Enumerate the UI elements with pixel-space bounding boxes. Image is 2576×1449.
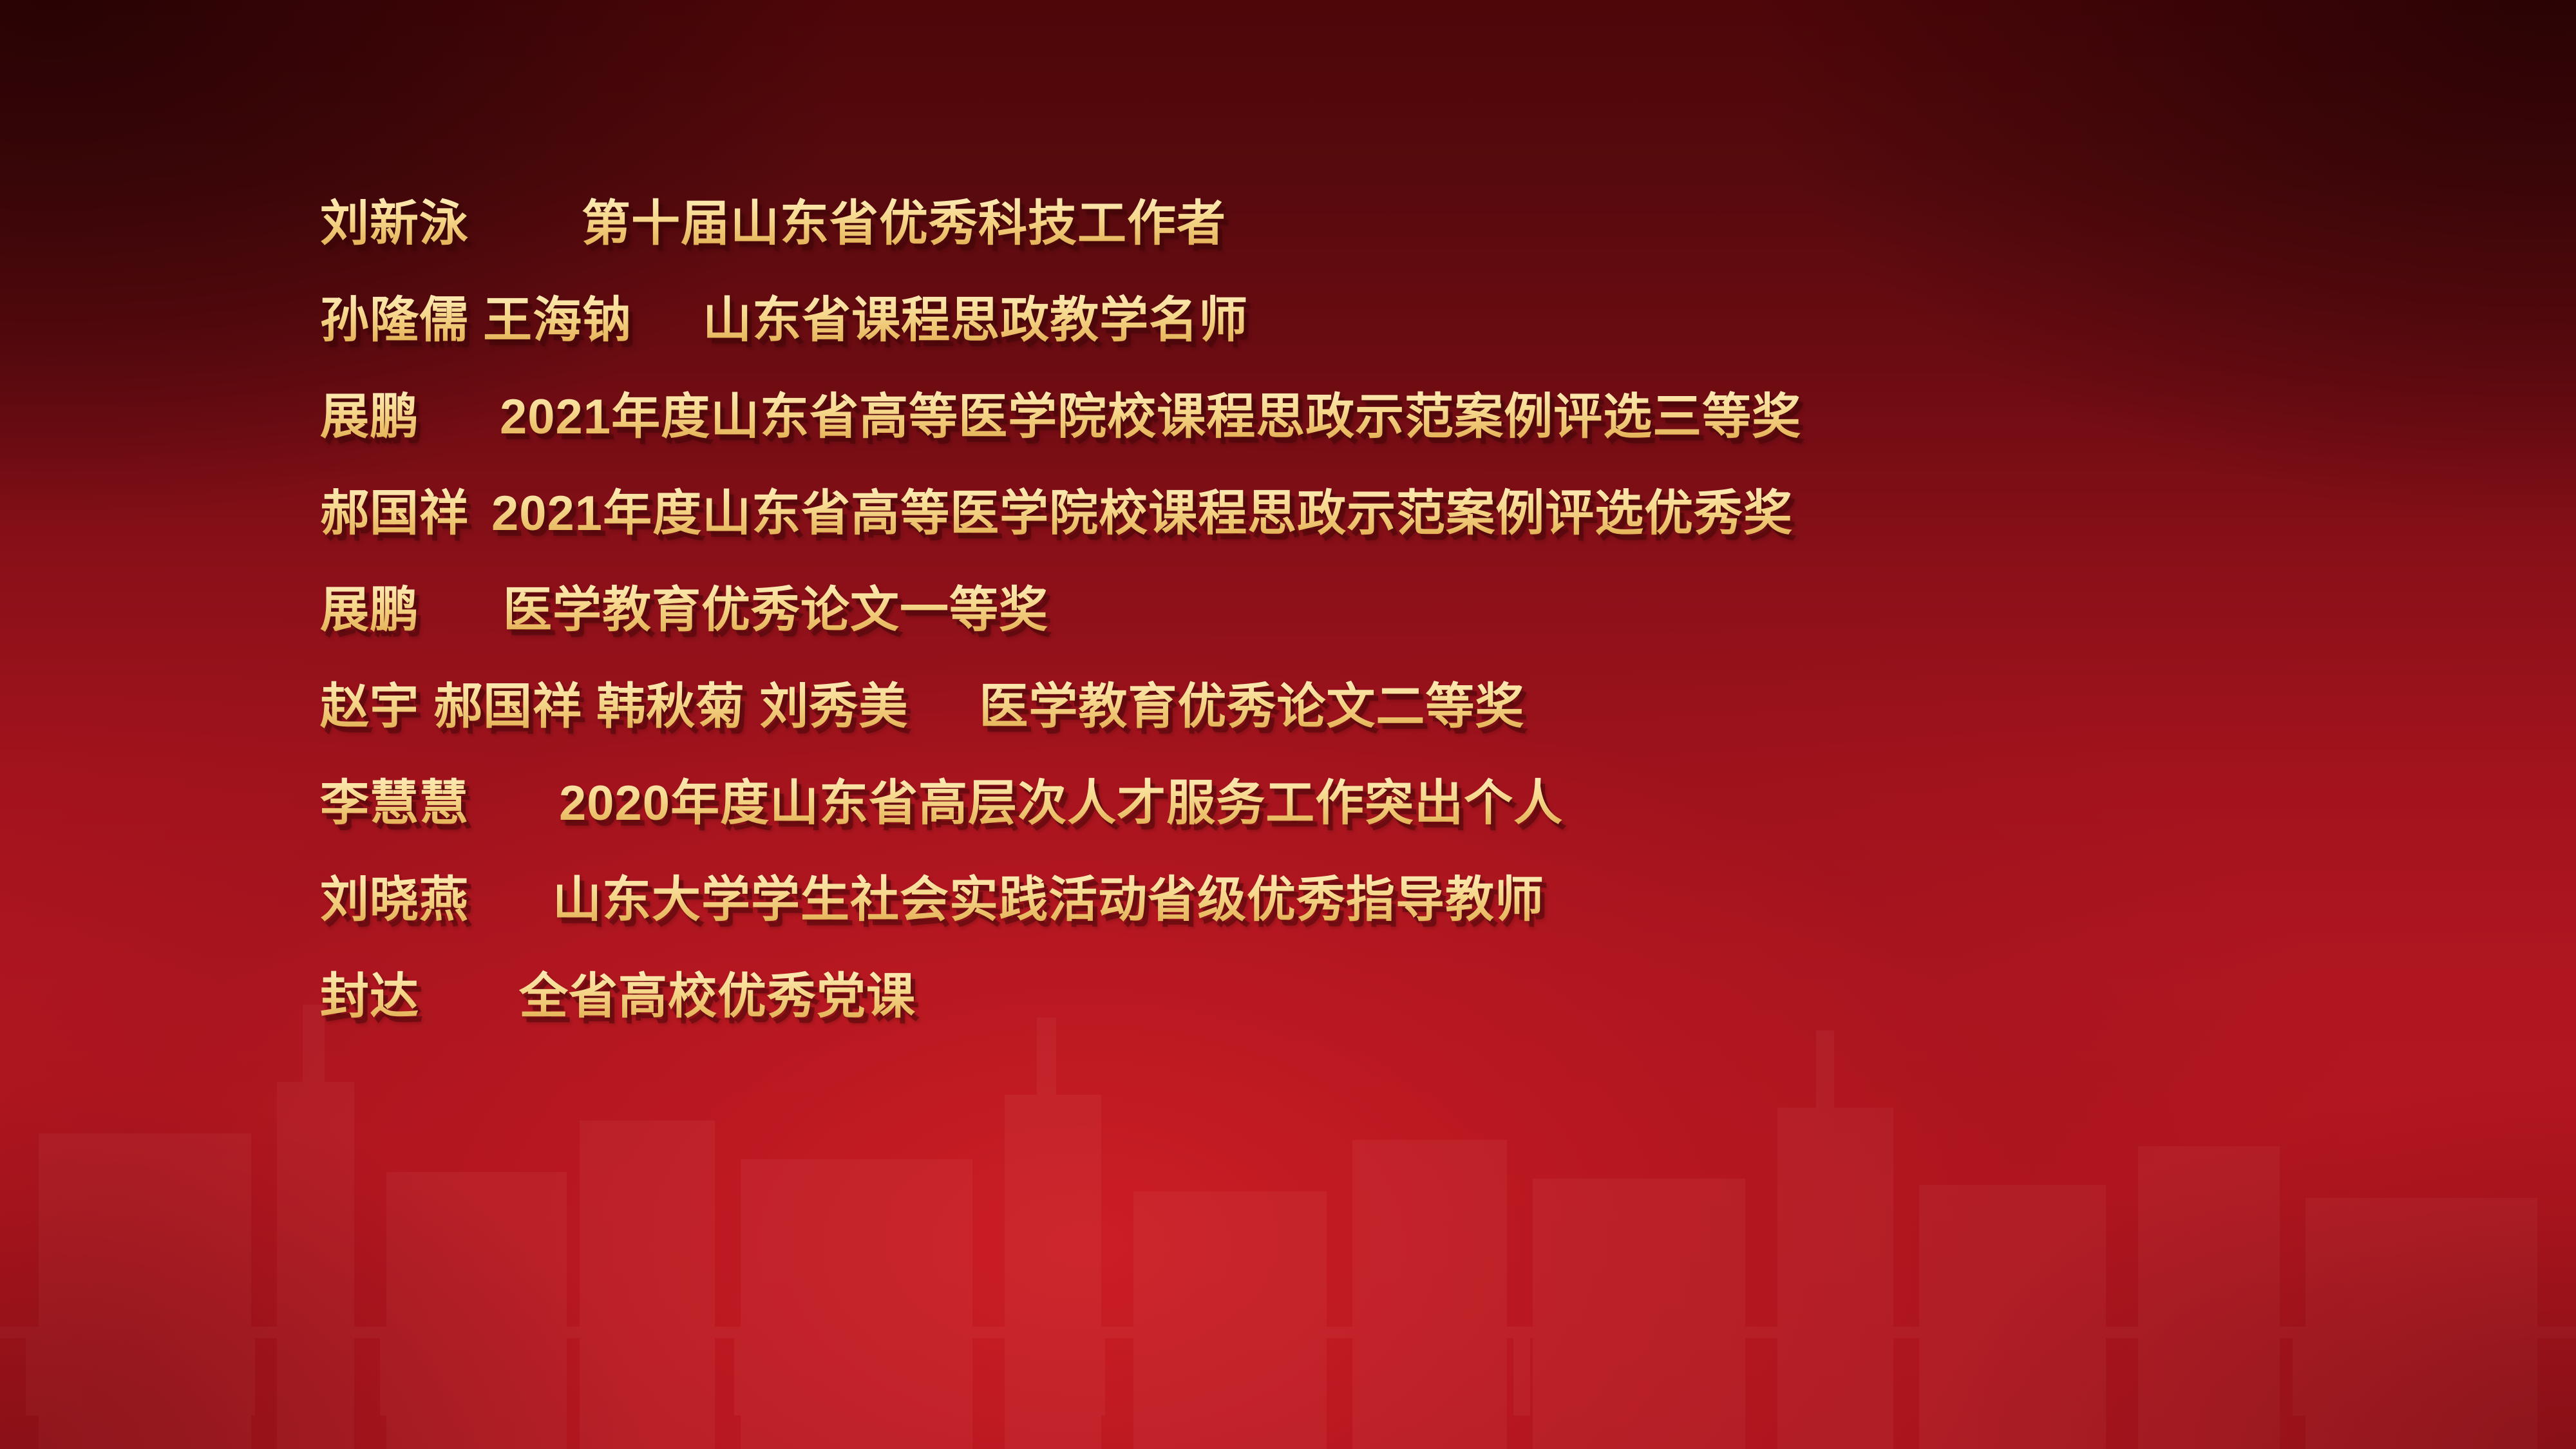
recipient-names: 展鹏 bbox=[320, 577, 419, 644]
recipient-names: 刘新泳 bbox=[320, 191, 469, 258]
recipient-names: 封达 bbox=[320, 963, 419, 1030]
roster-row: 李慧慧 2020年度山东省高层次人才服务工作突出个人 bbox=[320, 770, 1563, 837]
award-title: 医学教育优秀论文二等奖 bbox=[979, 674, 1524, 741]
roster-row: 展鹏 医学教育优秀论文一等奖 bbox=[320, 577, 1048, 644]
roster-row: 赵宇 郝国祥 韩秋菊 刘秀美 医学教育优秀论文二等奖 bbox=[320, 674, 1524, 741]
award-title: 山东大学学生社会实践活动省级优秀指导教师 bbox=[553, 867, 1544, 934]
recipient-names: 李慧慧 bbox=[320, 770, 469, 837]
award-title: 山东省课程思政教学名师 bbox=[703, 287, 1248, 354]
presentation-slide: 刘新泳 第十届山东省优秀科技工作者 孙隆儒 王海钠 山东省课程思政教学名师 展鹏… bbox=[0, 0, 2576, 1449]
roster-row: 封达 全省高校优秀党课 bbox=[320, 963, 916, 1030]
recipient-names: 孙隆儒 王海钠 bbox=[320, 287, 632, 354]
award-title: 全省高校优秀党课 bbox=[519, 963, 916, 1030]
recipient-names: 赵宇 郝国祥 韩秋菊 刘秀美 bbox=[320, 674, 908, 741]
roster-row: 刘新泳 第十届山东省优秀科技工作者 bbox=[320, 191, 1226, 258]
award-title: 2021年度山东省高等医学院校课程思政示范案例评选优秀奖 bbox=[491, 480, 1793, 547]
award-title: 2021年度山东省高等医学院校课程思政示范案例评选三等奖 bbox=[500, 384, 1801, 451]
roster-row: 郝国祥 2021年度山东省高等医学院校课程思政示范案例评选优秀奖 bbox=[320, 480, 1793, 547]
recipient-names: 展鹏 bbox=[320, 384, 419, 451]
recipient-names: 刘晓燕 bbox=[320, 867, 469, 934]
recipient-names: 郝国祥 bbox=[320, 480, 469, 547]
roster-row: 展鹏 2021年度山东省高等医学院校课程思政示范案例评选三等奖 bbox=[320, 384, 1801, 451]
roster-row: 孙隆儒 王海钠 山东省课程思政教学名师 bbox=[320, 287, 1248, 354]
award-roster-list: 刘新泳 第十届山东省优秀科技工作者 孙隆儒 王海钠 山东省课程思政教学名师 展鹏… bbox=[0, 0, 2576, 1449]
award-title: 2020年度山东省高层次人才服务工作突出个人 bbox=[559, 770, 1563, 837]
award-title: 第十届山东省优秀科技工作者 bbox=[582, 191, 1226, 258]
roster-row: 刘晓燕 山东大学学生社会实践活动省级优秀指导教师 bbox=[320, 867, 1544, 934]
award-title: 医学教育优秀论文一等奖 bbox=[503, 577, 1048, 644]
